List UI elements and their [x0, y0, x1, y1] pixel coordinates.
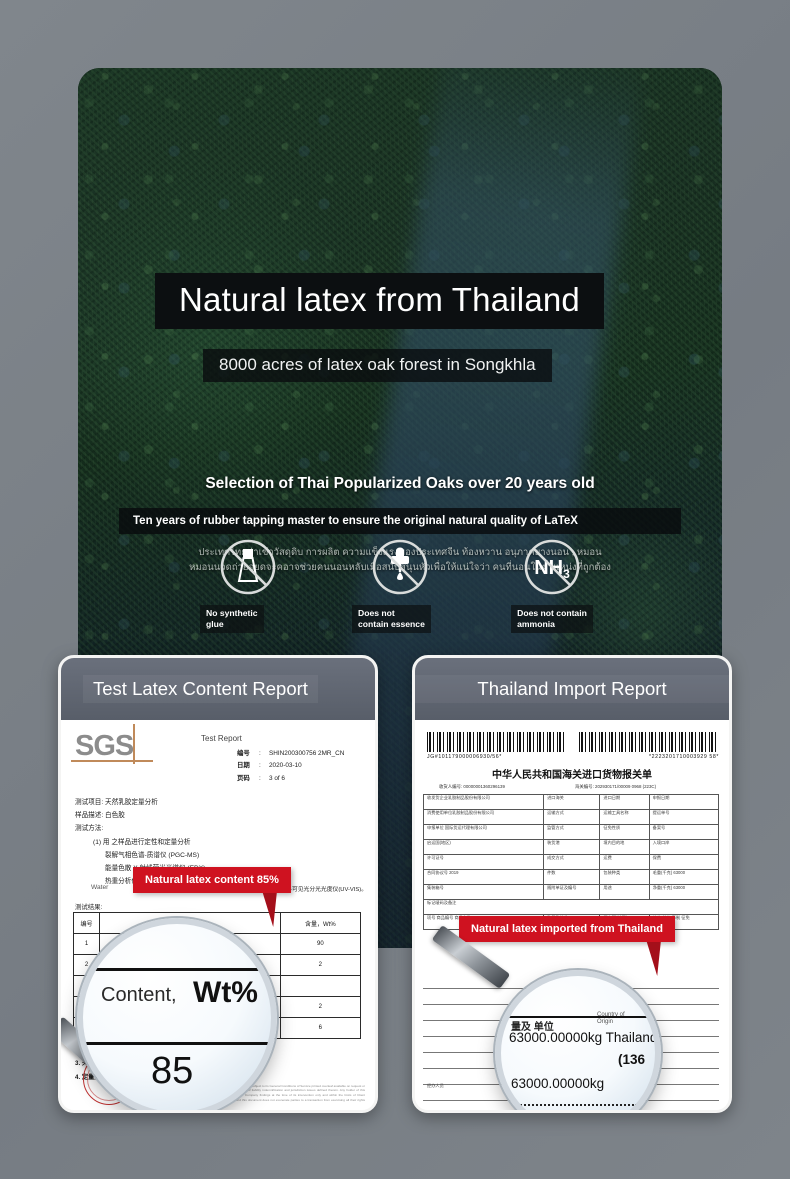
customs-declaration-document: JG#101179000006930/56* *2223201710003929… [415, 720, 729, 1113]
badge-label-line2: ammonia [517, 619, 587, 630]
doc-line: (1) 用 之样品进行定性和定量分析 [75, 836, 205, 849]
consignee-number: 收货人编号: 00000001360296139 [439, 784, 505, 790]
magnifier-weight-origin: 63000.00000kg Thailand [509, 1030, 657, 1045]
operator-signature-label: 经办人员 [427, 1083, 444, 1089]
form-cell: 装货港 [544, 840, 600, 855]
badge-label-line1: Does not [358, 608, 425, 619]
customs-form-title: 中华人民共和国海关进口货物报关单 [415, 766, 729, 781]
badge-no-synthetic-glue: No synthetic glue [200, 536, 296, 633]
svg-text:NH3: NH3 [534, 557, 570, 581]
cell-no: 1 [74, 934, 100, 955]
meta-row: 日期:2020-03-10 [237, 760, 344, 772]
form-cell: 进口日期 [600, 795, 649, 810]
subheadline: 8000 acres of latex oak forest in Songkh… [219, 355, 536, 375]
form-cell: 消费使用单位乳胶制品股份有限公司 [424, 810, 544, 825]
badge-label-line2: contain essence [358, 619, 425, 630]
origin-label-line2: Origin [597, 1019, 613, 1025]
form-cell: 进口海关 [544, 795, 600, 810]
thailand-import-report-card: Thailand Import Report JG#10117900000693… [412, 655, 732, 1113]
badge-label: No synthetic glue [200, 605, 264, 633]
card-header: Test Latex Content Report [61, 658, 375, 720]
form-cell: 启运国(地区) [424, 840, 544, 855]
meta-value: 2020-03-10 [269, 762, 302, 769]
form-cell: 申报单位 国际货运代理有限公司 [424, 825, 544, 840]
page-title: Natural latex from Thailand [179, 282, 580, 318]
sgs-document: SGS Test Report 编号:SHIN200300756 2MR_CN … [61, 720, 375, 1113]
magnifier-code: (136 [618, 1052, 645, 1067]
card-header: Thailand Import Report [415, 658, 729, 720]
test-latex-content-report-card: Test Latex Content Report SGS Test Repor… [58, 655, 378, 1113]
subheadline-band: 8000 acres of latex oak forest in Songkh… [203, 349, 552, 382]
form-cell: 申报日期 [649, 795, 718, 810]
badge-label: Does not contain essence [352, 605, 431, 633]
customs-number: 海关编号: 202930171/00009 0968 (223C) [575, 784, 656, 790]
meta-row: 编号:SHIN200300756 2MR_CN [237, 748, 344, 760]
cell-value [280, 976, 360, 997]
meta-label: 编号 [237, 748, 259, 760]
table-row: 许可证号成交方式运费保费 [424, 855, 719, 870]
doc-line: 测试项目: 天然乳胶定量分析 [75, 796, 205, 809]
thailand-import-callout: Natural latex imported from Thailand [459, 916, 675, 942]
barcode-right [579, 732, 719, 752]
form-cell: 成交方式 [544, 855, 600, 870]
table-row: 标记唛码及备注 [424, 900, 719, 915]
badge-label: Does not contain ammonia [511, 605, 593, 633]
midline-row: Selection of Thai Popularized Oaks over … [78, 475, 722, 493]
table-row: 启运国(地区)装货港境内目的地入境口岸 [424, 840, 719, 855]
table-row: 合同协议号 2019件数包装种类毛重(千克) 63000 [424, 870, 719, 885]
card-title-backing: Thailand Import Report [415, 675, 729, 703]
form-cell: 净重(千克) 63000 [649, 885, 718, 900]
card-title-backing: Test Latex Content Report [83, 675, 318, 703]
cell-value: 90 [280, 934, 360, 955]
magnifier-left: Content, Wt% 85 [77, 918, 277, 1113]
feature-badges: No synthetic glue Does not [78, 536, 722, 633]
customs-form-table: 收发货企业乳胶制品股份有限公司进口海关进口日期申报日期 消费使用单位乳胶制品股份… [423, 794, 719, 930]
cell-value: 2 [280, 997, 360, 1018]
form-cell: 提运单号 [649, 810, 718, 825]
form-cell: 收发货企业乳胶制品股份有限公司 [424, 795, 544, 810]
magnifier-unit: Wt% [193, 976, 258, 1010]
meta-label: 页码 [237, 773, 259, 785]
form-cell: 用途 [600, 885, 649, 900]
magnifier-rule-bottom [83, 1042, 271, 1045]
latex-content-callout: Natural latex content 85% [133, 867, 291, 893]
water-row-label: Water [91, 884, 108, 891]
form-cell: 征免性质 [600, 825, 649, 840]
midline-text: Selection of Thai Popularized Oaks over … [205, 475, 594, 492]
table-row: 申报单位 国际货运代理有限公司监管方式征免性质备案号 [424, 825, 719, 840]
form-cell: 毛重(千克) 63000 [649, 870, 718, 885]
badge-label-line1: No synthetic [206, 608, 258, 619]
card-title: Test Latex Content Report [93, 678, 308, 700]
barcode-left-number: JG#101179000006930/56* [427, 754, 502, 760]
sgs-logo-rule [133, 724, 135, 764]
sgs-logo: SGS [75, 730, 133, 763]
meta-value: SHIN200300756 2MR_CN [269, 750, 344, 757]
magnifier-content-label: Content, [101, 984, 177, 1007]
form-cell: 运费 [600, 855, 649, 870]
meta-sep: : [259, 748, 269, 760]
meta-value: 3 of 6 [269, 775, 285, 782]
badge-no-ammonia: NH3 Does not contain ammonia [504, 536, 600, 633]
magnifier-net-weight: 63000.00000kg [511, 1076, 604, 1091]
card-title: Thailand Import Report [425, 678, 719, 700]
form-cell: 许可证号 [424, 855, 544, 870]
result-label: 测试结果: [75, 902, 102, 911]
form-cell: 备案号 [649, 825, 718, 840]
table-row: 集装箱号随附单证及编号用途净重(千克) 63000 [424, 885, 719, 900]
cell-value: 2 [280, 955, 360, 976]
form-cell: 集装箱号 [424, 885, 544, 900]
barcode-left [427, 732, 567, 752]
doc-line: 测试方法: [75, 822, 205, 835]
meta-sep: : [259, 760, 269, 772]
product-detail-page: Natural latex from Thailand 8000 acres o… [0, 0, 790, 1179]
no-essence-icon [369, 536, 431, 598]
meta-row: 页码:3 of 6 [237, 773, 344, 785]
report-meta: 编号:SHIN200300756 2MR_CN 日期:2020-03-10 页码… [237, 748, 344, 785]
form-cell: 保费 [649, 855, 718, 870]
table-row: 消费使用单位乳胶制品股份有限公司运输方式运输工具名称提运单号 [424, 810, 719, 825]
table-row: 收发货企业乳胶制品股份有限公司进口海关进口日期申报日期 [424, 795, 719, 810]
form-cell: 监管方式 [544, 825, 600, 840]
magnifier-rule-top [83, 968, 271, 971]
form-cell: 标记唛码及备注 [424, 900, 719, 915]
form-cell: 随附单证及编号 [544, 885, 600, 900]
magnifier-origin-label: Country of Origin [597, 1012, 625, 1025]
badge-label-line1: Does not contain [517, 608, 587, 619]
form-cell: 件数 [544, 870, 600, 885]
report-heading: Test Report [201, 734, 242, 743]
form-cell: 运输方式 [544, 810, 600, 825]
meta-label: 日期 [237, 760, 259, 772]
form-cell: 运输工具名称 [600, 810, 649, 825]
magnifier-value: 85 [151, 1050, 193, 1093]
magnifier-dotted-rule [517, 1104, 637, 1106]
note-text: Ten years of rubber tapping master to en… [133, 515, 667, 527]
badge-label-line2: glue [206, 619, 258, 630]
form-cell: 境内目的地 [600, 840, 649, 855]
note-band: Ten years of rubber tapping master to en… [119, 508, 681, 534]
barcode-right-number: *2223201710003929 58* [649, 754, 719, 760]
doc-line: 样品描述: 白色胶 [75, 809, 205, 822]
badge-no-essence: Does not contain essence [352, 536, 448, 633]
doc-line: 裂解气相色谱-质谱仪 (PGC-MS) [75, 849, 205, 862]
cell-value: 6 [280, 1018, 360, 1039]
form-cell: 入境口岸 [649, 840, 718, 855]
col-header-no: 编号 [74, 913, 100, 934]
headline-band: Natural latex from Thailand [155, 273, 604, 329]
no-synthetic-glue-icon [217, 536, 279, 598]
meta-sep: : [259, 773, 269, 785]
form-cell: 包装种类 [600, 870, 649, 885]
form-cell: 合同协议号 2019 [424, 870, 544, 885]
no-ammonia-icon: NH3 [521, 536, 583, 598]
col-header-content: 含量，Wt% [280, 913, 360, 934]
magnifier-rule [501, 1016, 655, 1018]
